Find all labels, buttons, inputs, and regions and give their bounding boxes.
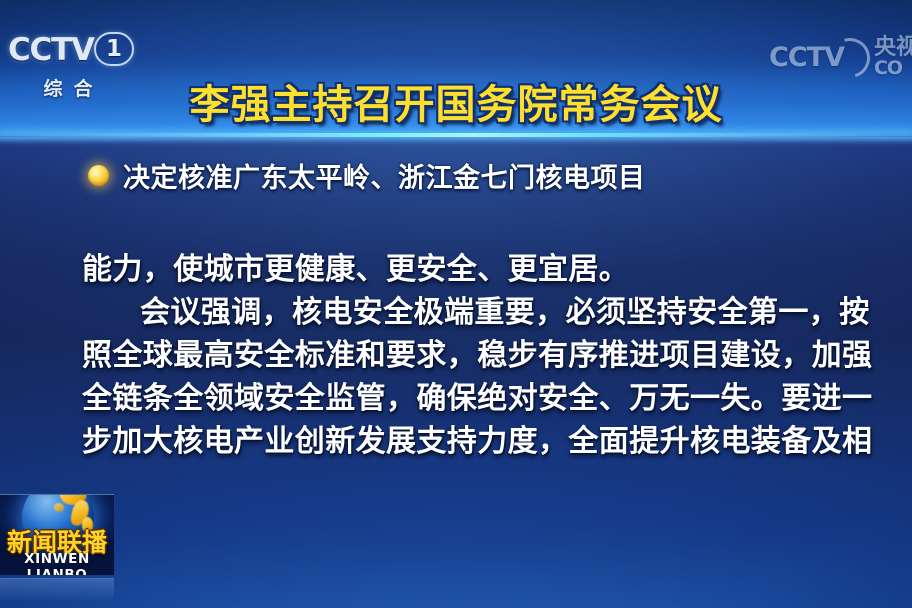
- lower-third-strip: [0, 578, 114, 600]
- cctv-wordmark: CCTV: [8, 35, 94, 66]
- body-line: 能力，使城市更健康、更安全、更宜居。: [82, 248, 892, 291]
- xinwen-lianbo-logo: 新闻联播 XINWEN LIANBO: [0, 494, 114, 575]
- header-divider-glow: [0, 137, 912, 142]
- body-line: 步加大核电产业创新发展支持力度，全面提升核电装备及相: [82, 420, 892, 463]
- body-line: 全链条全领域安全监管，确保绝对安全、万无一失。要进一: [82, 377, 892, 420]
- subhead: 决定核准广东太平岭、浙江金七门核电项目: [88, 156, 646, 195]
- body-text: 能力，使城市更健康、更安全、更宜居。 会议强调，核电安全极端重要，必须坚持安全第…: [82, 248, 892, 463]
- cctv-logo-row: CCTV 1: [8, 30, 136, 70]
- body-line: 会议强调，核电安全极端重要，必须坚持安全第一，按: [82, 291, 892, 334]
- program-logo-en: XINWEN LIANBO: [0, 551, 114, 575]
- body-line: 照全球最高安全标准和要求，稳步有序推进项目建设，加强: [82, 334, 892, 377]
- headline: 李强主持召开国务院常务会议: [0, 72, 912, 130]
- bullet-dot-icon: [88, 165, 109, 186]
- channel-number-label: 1: [106, 38, 122, 61]
- subhead-label: 决定核准广东太平岭、浙江金七门核电项目: [123, 156, 646, 195]
- globe-landmass: [54, 503, 64, 512]
- broadcast-screen: CCTV 1 综合 CCTV 央视 CO 李强主持召开国务院常务会议 决定核准广…: [0, 0, 912, 608]
- channel-number-badge: 1: [94, 32, 134, 66]
